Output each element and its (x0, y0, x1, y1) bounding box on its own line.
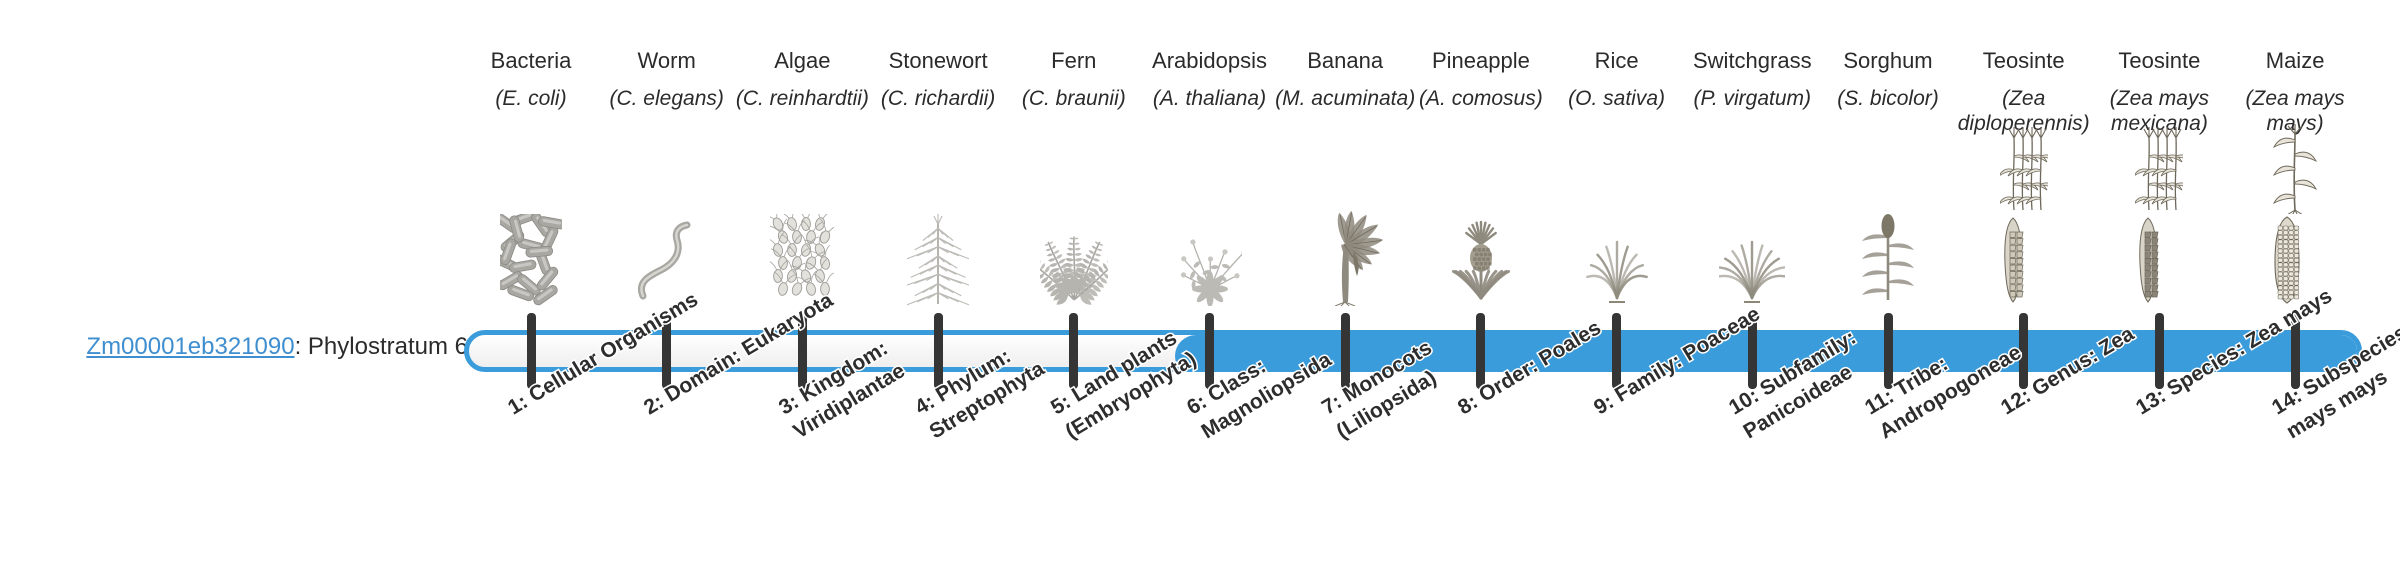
phylostratum-figure: Zm00001eb321090: Phylostratum 6 Bacteria… (0, 0, 2400, 580)
rank-labels: 1: Cellular Organisms2: Domain: Eukaryot… (0, 0, 2400, 580)
